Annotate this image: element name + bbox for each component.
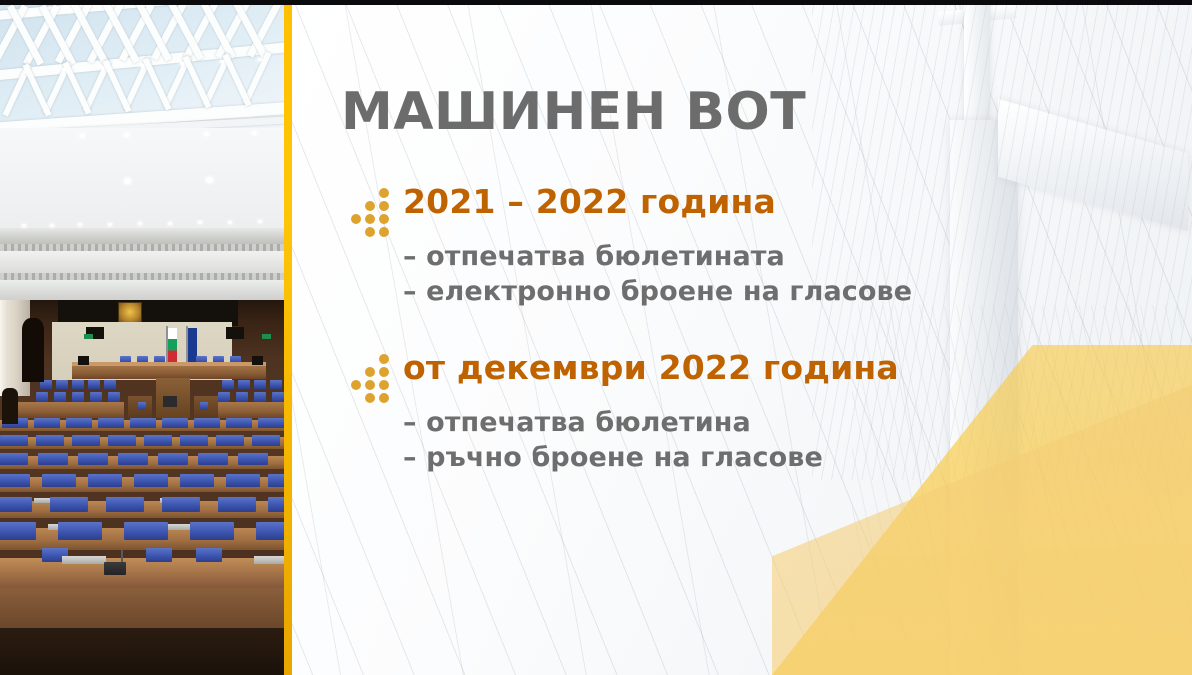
state-emblem [118,302,142,324]
parliament-chamber-photo [0,0,284,675]
list-item: – ръчно броене на гласове [403,440,823,475]
section-heading-1: 2021 – 2022 година [403,182,776,221]
slide-title: МАШИНЕН ВОТ [341,82,806,142]
gold-divider-bar [284,0,292,675]
list-item: – отпечатва бюлетината [403,239,912,274]
section-heading-2: от декември 2022 година [403,348,899,387]
microphone-unit [104,562,126,575]
photo-assembly-hall [0,300,284,675]
section-items-2: – отпечатва бюлетина – ръчно броене на г… [403,405,823,475]
list-item: – електронно броене на гласове [403,274,912,309]
section-items-1: – отпечатва бюлетината – електронно брое… [403,239,912,309]
ascending-dots-icon [351,187,391,239]
photo-ceiling-region [0,0,284,318]
presentation-slide: МАШИНЕН ВОТ 2021 – 2022 година – отпечат… [0,0,1192,675]
ascending-dots-icon [351,353,391,405]
letterbox-bar-top [0,0,1192,5]
bulgarian-flag [168,328,177,362]
slide-content: МАШИНЕН ВОТ 2021 – 2022 година – отпечат… [292,0,1192,675]
photo-wall [0,128,284,228]
list-item: – отпечатва бюлетина [403,405,823,440]
slide-background: МАШИНЕН ВОТ 2021 – 2022 година – отпечат… [292,0,1192,675]
